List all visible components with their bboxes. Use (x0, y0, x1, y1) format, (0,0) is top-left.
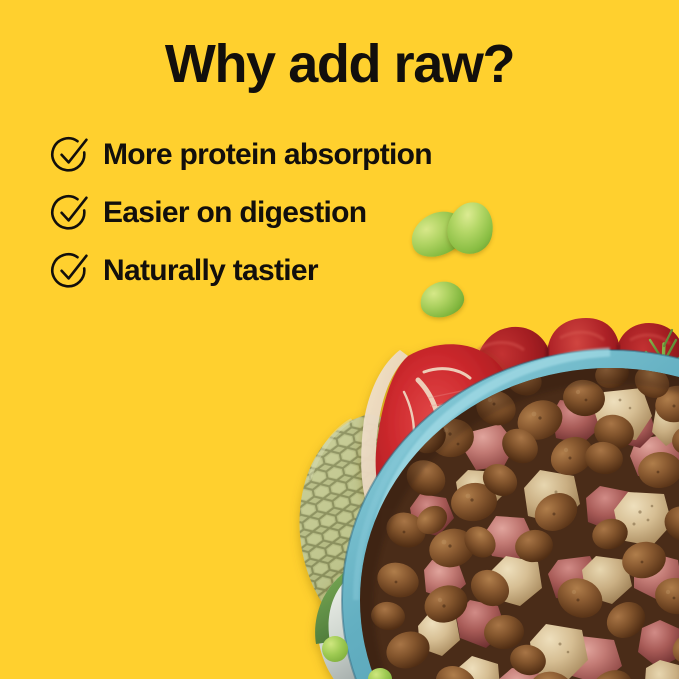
freeze-dried-cream-chunks (418, 388, 679, 679)
rosemary-sprig (640, 330, 679, 430)
list-item: Naturally tastier (50, 242, 432, 300)
benefits-list: More protein absorption Easier on digest… (50, 126, 432, 300)
bowl-contents (360, 356, 679, 679)
pea-icon (322, 636, 348, 662)
food-bowl (342, 350, 679, 679)
page-title: Why add raw? (0, 36, 679, 93)
freeze-dried-meat (410, 400, 679, 679)
raw-beef-steak (361, 344, 519, 551)
list-item-label: Naturally tastier (103, 254, 318, 288)
promo-banner: Why add raw? More protein absorption Eas… (0, 0, 679, 679)
kibble (369, 356, 679, 679)
green-tripe (300, 414, 436, 650)
pea-icon (368, 668, 392, 679)
liver-pieces (470, 318, 679, 424)
food-photo-composition (0, 0, 679, 679)
list-item: Easier on digestion (50, 184, 432, 242)
list-item-label: More protein absorption (103, 138, 432, 172)
check-circle-icon (50, 251, 90, 291)
green-lipped-mussel (315, 552, 507, 679)
check-circle-icon (50, 135, 90, 175)
check-circle-icon (50, 193, 90, 233)
list-item-label: Easier on digestion (103, 196, 366, 230)
list-item: More protein absorption (50, 126, 432, 184)
